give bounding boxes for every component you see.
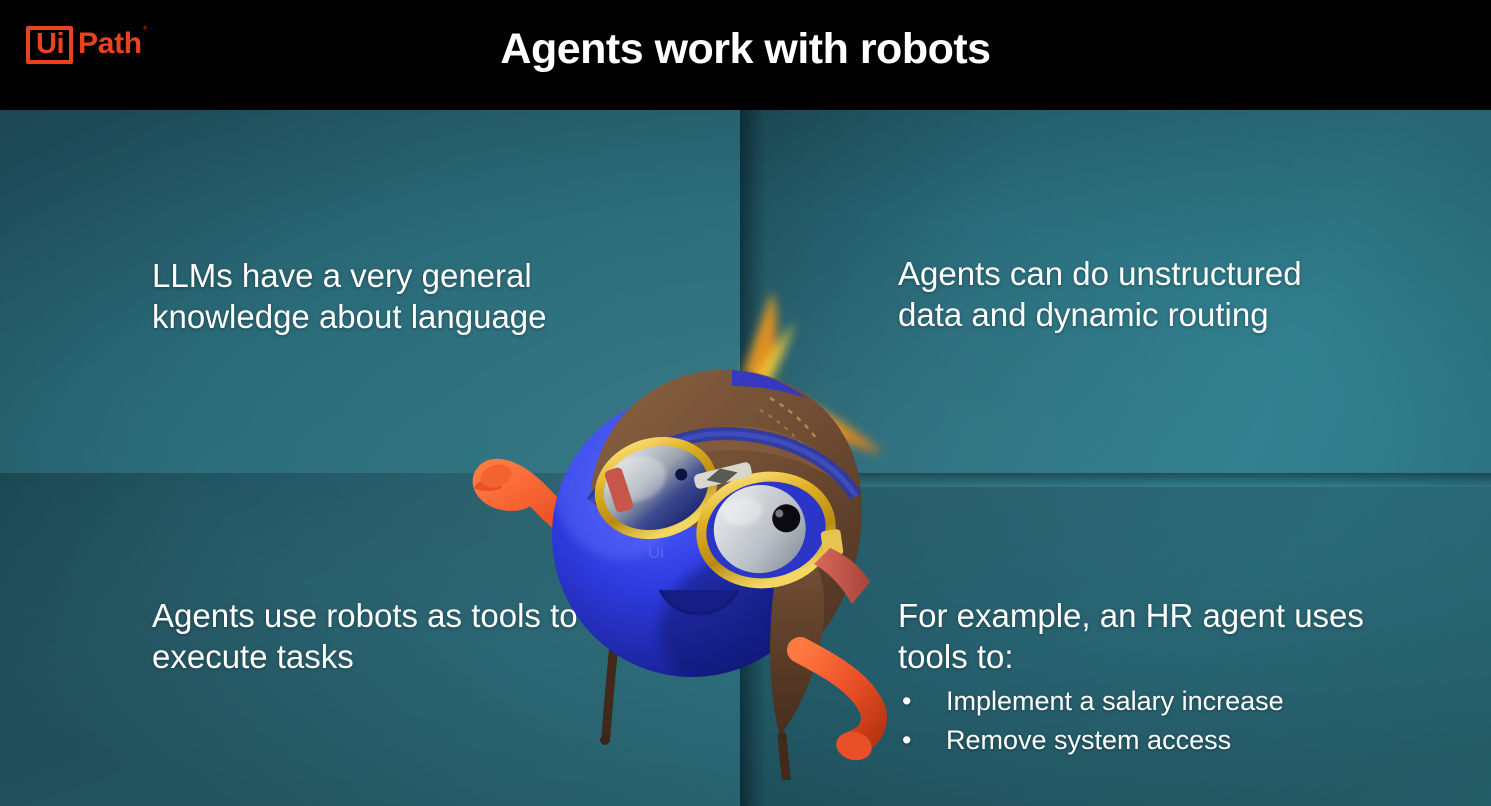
quadrant-bottom-right-heading: For example, an HR agent uses tools to: [898, 595, 1408, 678]
page-title: Agents work with robots [0, 24, 1491, 76]
list-item-label: Implement a salary increase [946, 686, 1284, 716]
cap-strap-right [782, 736, 793, 780]
slide-background-stage: LLMs have a very general knowledge about… [0, 110, 1491, 806]
list-item: • Remove system access [898, 723, 1408, 758]
list-item-label: Remove system access [946, 725, 1231, 755]
hr-agent-tools-list: • Implement a salary increase • Remove s… [898, 684, 1408, 758]
body-badge-text: Ui [648, 543, 664, 562]
slide-header: Ui Path ° Agents work with robots [0, 0, 1491, 110]
quadrant-text-bottom-right: For example, an HR agent uses tools to: … [898, 595, 1408, 758]
slide: Ui Path ° Agents work with robots LLMs h… [0, 0, 1491, 806]
list-item: • Implement a salary increase [898, 684, 1408, 719]
quadrant-text-top-right: Agents can do unstructured data and dyna… [898, 253, 1318, 336]
uipath-robot-mascot: Ui [470, 230, 910, 780]
right-arm [800, 650, 875, 764]
